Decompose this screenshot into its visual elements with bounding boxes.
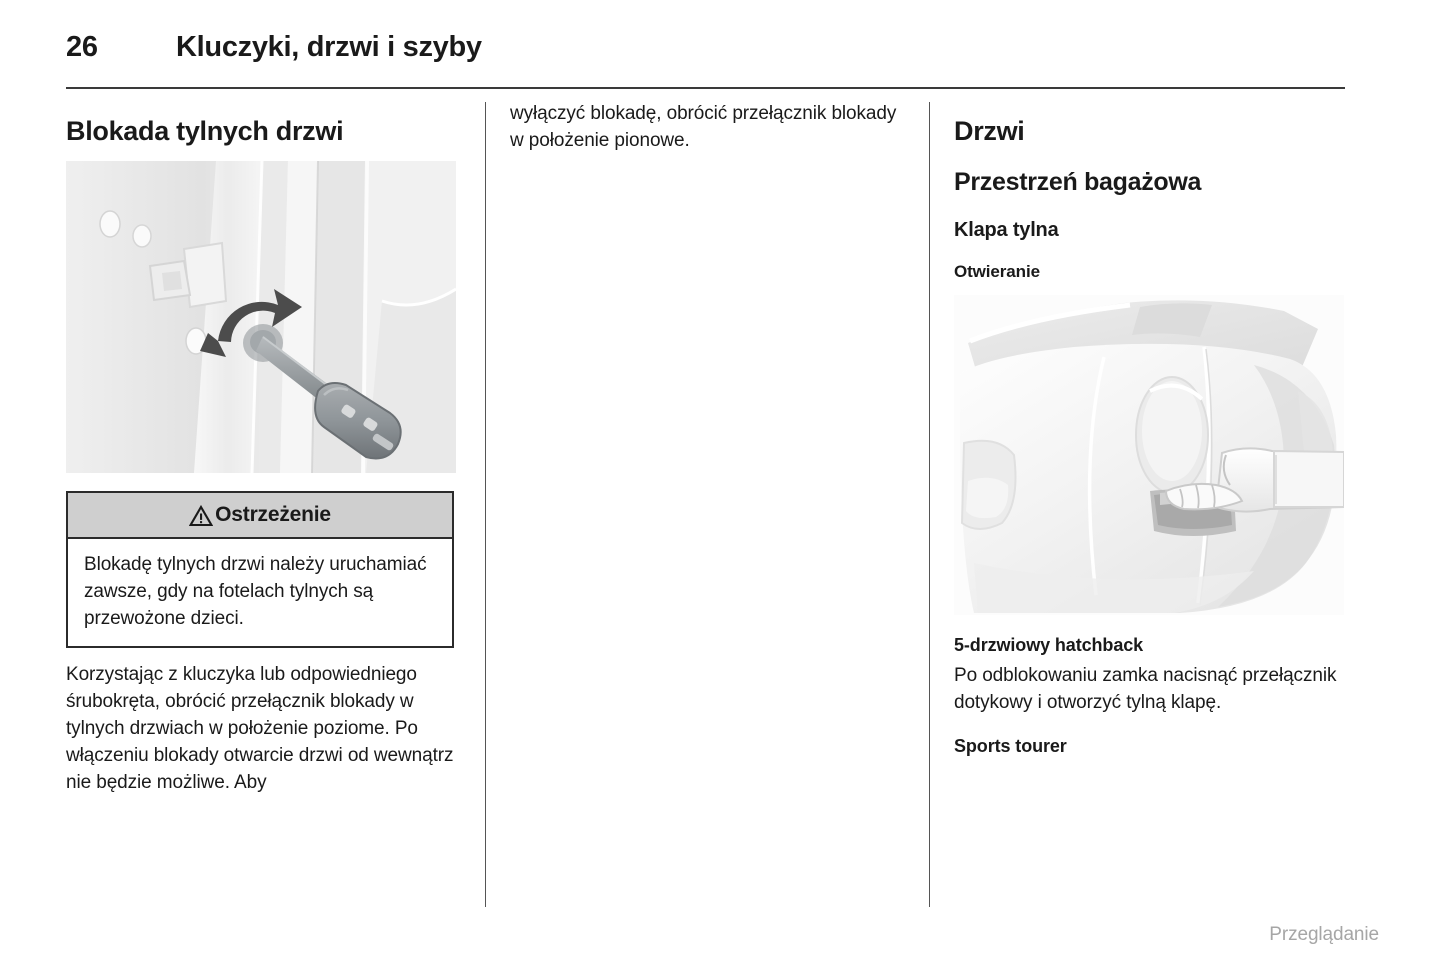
three-column-layout: Blokada tylnych drzwi: [0, 100, 1445, 910]
page-title: Kluczyki, drzwi i szyby: [176, 26, 482, 68]
section-heading-opening: Otwieranie: [954, 260, 1348, 284]
child-lock-illustration-svg: [66, 161, 456, 473]
warning-box-title: Ostrzeżenie: [215, 502, 331, 528]
warning-box-body: Blokadę tylnych drzwi należy uruchamiać …: [68, 539, 452, 646]
warning-box-header: Ostrzeżenie: [68, 493, 452, 539]
figure-child-lock-photo: [66, 161, 456, 473]
paragraph-hatchback-opening: Po odblokowaniu zamka nacisnąć przełączn…: [954, 662, 1348, 716]
header-divider-rule: [66, 87, 1345, 89]
paragraph-child-lock-operation: Korzystając z kluczyka lub odpowiedniego…: [66, 661, 460, 796]
subheading-5-door-hatchback: 5-drzwiowy hatchback: [954, 632, 1348, 658]
column-middle: wyłączyć blokadę, obrócić przełącznik bl…: [510, 100, 904, 154]
column-right: Drzwi Przestrzeń bagażowa Klapa tylna Ot…: [954, 100, 1348, 759]
paragraph-child-lock-continued: wyłączyć blokadę, obrócić przełącznik bl…: [510, 100, 904, 154]
subheading-sports-tourer: Sports tourer: [954, 733, 1348, 759]
page-footer-label: Przeglądanie: [1269, 924, 1379, 946]
section-heading-tailgate: Klapa tylna: [954, 217, 1348, 243]
column-divider-left: [485, 102, 486, 907]
column-divider-right: [929, 102, 930, 907]
warning-box-text: Blokadę tylnych drzwi należy uruchamiać …: [84, 551, 438, 632]
page-header: 26 Kluczyki, drzwi i szyby: [66, 26, 1345, 76]
column-left: Blokada tylnych drzwi: [66, 100, 460, 796]
section-heading-luggage-compartment: Przestrzeń bagażowa: [954, 166, 1348, 198]
section-heading-doors: Drzwi: [954, 114, 1348, 148]
tailgate-illustration-svg: [954, 295, 1344, 615]
warning-triangle-icon: [189, 505, 213, 527]
page-number: 26: [66, 26, 98, 68]
warning-box: Ostrzeżenie Blokadę tylnych drzwi należy…: [66, 491, 454, 648]
figure-tailgate-illustration: [954, 295, 1344, 615]
section-heading-child-lock: Blokada tylnych drzwi: [66, 114, 460, 148]
